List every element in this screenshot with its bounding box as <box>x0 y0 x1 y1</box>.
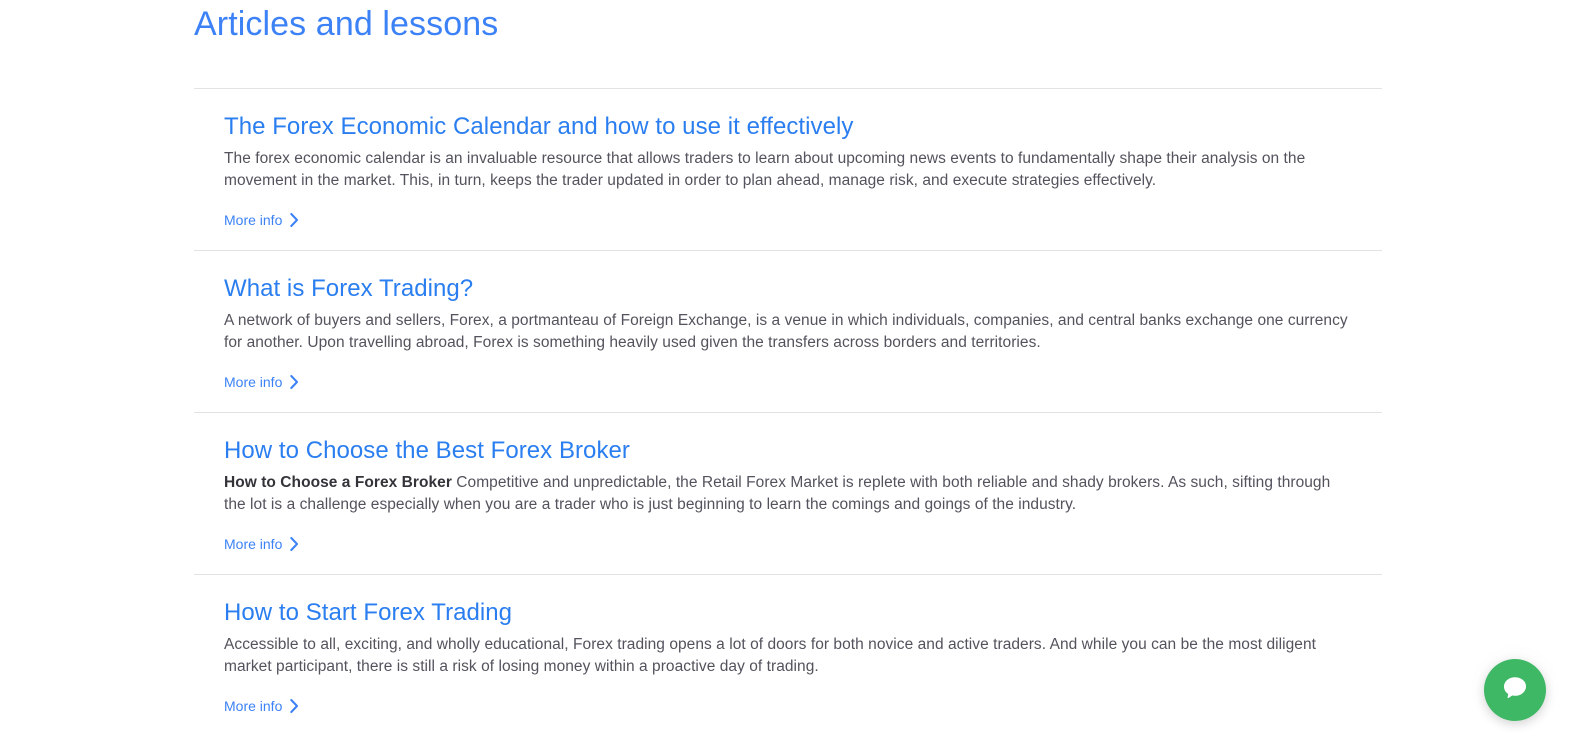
more-info-label: More info <box>224 697 282 715</box>
more-info-link[interactable]: More info <box>224 535 299 553</box>
chevron-right-icon <box>290 213 299 227</box>
more-info-link[interactable]: More info <box>224 211 299 229</box>
article-summary: How to Choose a Forex Broker Competitive… <box>224 472 1349 515</box>
article-title-link[interactable]: What is Forex Trading? <box>224 273 1382 304</box>
article-item: How to Start Forex Trading Accessible to… <box>194 575 1382 736</box>
chevron-right-icon <box>290 537 299 551</box>
chat-bubble-button[interactable] <box>1484 659 1546 721</box>
article-lead: How to Choose a Forex Broker <box>224 474 452 491</box>
more-info-label: More info <box>224 373 282 391</box>
article-summary: Accessible to all, exciting, and wholly … <box>224 634 1349 677</box>
more-info-label: More info <box>224 211 282 229</box>
article-body-text: A network of buyers and sellers, Forex, … <box>224 312 1348 351</box>
article-title-link[interactable]: The Forex Economic Calendar and how to u… <box>224 111 1382 142</box>
article-summary: The forex economic calendar is an invalu… <box>224 148 1349 191</box>
article-title-link[interactable]: How to Choose the Best Forex Broker <box>224 435 1382 466</box>
article-body-text: Accessible to all, exciting, and wholly … <box>224 636 1316 675</box>
chevron-right-icon <box>290 699 299 713</box>
article-summary: A network of buyers and sellers, Forex, … <box>224 310 1349 353</box>
articles-page: Articles and lessons The Forex Economic … <box>0 0 1578 736</box>
article-item: The Forex Economic Calendar and how to u… <box>194 89 1382 250</box>
chevron-right-icon <box>290 375 299 389</box>
article-title-link[interactable]: How to Start Forex Trading <box>224 597 1382 628</box>
article-item: What is Forex Trading? A network of buye… <box>194 251 1382 412</box>
more-info-label: More info <box>224 535 282 553</box>
article-body-text: The forex economic calendar is an invalu… <box>224 150 1305 189</box>
page-title: Articles and lessons <box>194 0 1382 46</box>
speech-bubble-icon <box>1500 673 1530 708</box>
more-info-link[interactable]: More info <box>224 697 299 715</box>
more-info-link[interactable]: More info <box>224 373 299 391</box>
article-item: How to Choose the Best Forex Broker How … <box>194 413 1382 574</box>
articles-content: Articles and lessons The Forex Economic … <box>194 0 1382 736</box>
